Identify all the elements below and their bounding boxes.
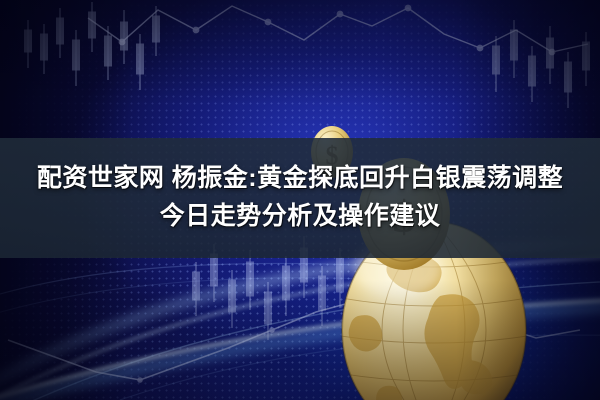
light-swoosh-arcs xyxy=(0,242,600,400)
stock-news-banner: $ $ 配资世家网 杨振金:黄金探底回升白银震荡调整 今日走势分析及操作建议 xyxy=(0,0,600,400)
candlestick-cluster-top-right xyxy=(493,20,590,108)
zigzag-line-chart-top xyxy=(88,5,588,56)
zigzag-line-chart-bottom xyxy=(8,297,580,383)
title-block: 配资世家网 杨振金:黄金探底回升白银震荡调整 今日走势分析及操作建议 xyxy=(0,138,600,258)
headline-line-1: 配资世家网 杨振金:黄金探底回升白银震荡调整 xyxy=(37,160,563,196)
candlestick-cluster-top-left xyxy=(25,2,160,90)
light-streak-glow xyxy=(0,300,600,400)
headline-line-2: 今日走势分析及操作建议 xyxy=(160,198,441,234)
